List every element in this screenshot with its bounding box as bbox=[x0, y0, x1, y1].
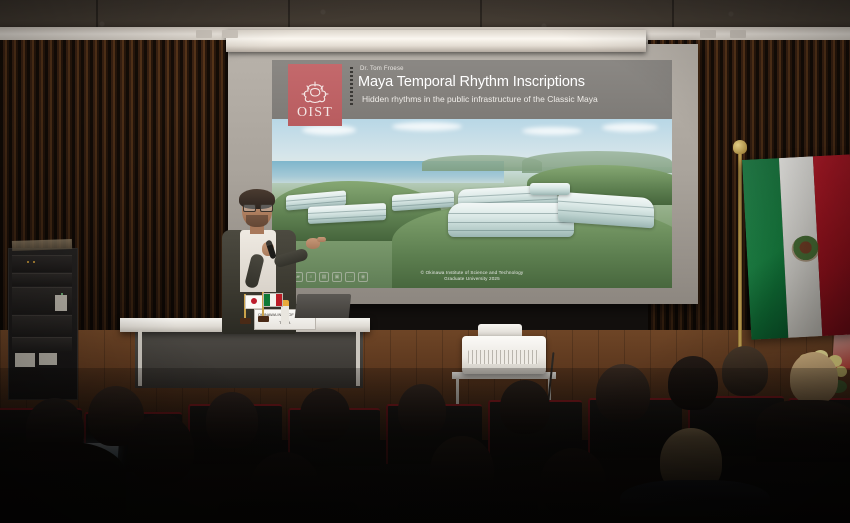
presenter-table-skirt bbox=[135, 330, 363, 388]
presentation-slide: OIST Dr. Tom Froese Maya Temporal Rhythm… bbox=[272, 60, 672, 288]
rack-unit bbox=[12, 337, 72, 352]
audience-head bbox=[398, 384, 446, 436]
more-options-icon[interactable]: ⋯ bbox=[345, 272, 355, 282]
oist-logo: OIST bbox=[288, 64, 342, 126]
audience-shoulders bbox=[398, 488, 538, 523]
audience-head-light-hair bbox=[790, 352, 838, 404]
projector-vent bbox=[468, 350, 538, 364]
flagpole bbox=[738, 148, 742, 348]
audience-head bbox=[668, 356, 718, 410]
status-led bbox=[27, 261, 29, 263]
campus-building-small bbox=[530, 183, 570, 195]
glasses-icon bbox=[243, 204, 271, 210]
flag-shading bbox=[742, 154, 850, 339]
beam-clip bbox=[196, 30, 212, 38]
rack-unit bbox=[12, 315, 72, 336]
cloud bbox=[602, 123, 658, 132]
projector bbox=[462, 336, 546, 374]
campus-building-main bbox=[448, 203, 574, 237]
audience-head bbox=[300, 388, 350, 442]
slides-grid-icon[interactable]: ▦ bbox=[319, 272, 329, 282]
campus-photo: © Okinawa Institute of Science and Techn… bbox=[272, 119, 672, 288]
steel-beam-center bbox=[226, 30, 646, 52]
beam-clip bbox=[222, 30, 238, 38]
screen-icon[interactable]: ▣ bbox=[332, 272, 342, 282]
table-leg bbox=[138, 330, 142, 386]
cloud bbox=[392, 122, 462, 131]
audience-head bbox=[128, 414, 194, 484]
placard-line-2: Dr. Tom Froese bbox=[255, 327, 315, 330]
campus-building bbox=[392, 191, 454, 211]
cloud bbox=[522, 127, 582, 135]
mexico-flag bbox=[742, 154, 850, 339]
audience-shoulders bbox=[0, 442, 126, 523]
cloud bbox=[302, 125, 356, 135]
beam-clip bbox=[730, 30, 746, 38]
rack-unit bbox=[12, 255, 72, 272]
presenter-laptop bbox=[295, 294, 352, 318]
audience-head bbox=[500, 380, 550, 434]
audience-head bbox=[540, 448, 606, 518]
magnifier-icon[interactable]: ⌕ bbox=[306, 272, 316, 282]
pointer-icon[interactable]: ◉ bbox=[358, 272, 368, 282]
speaker-finger bbox=[317, 237, 326, 242]
audience-head bbox=[722, 346, 768, 396]
slide-accent-bar bbox=[350, 67, 353, 107]
audience-head bbox=[206, 392, 258, 448]
audience-shoulders bbox=[218, 492, 358, 523]
flagpole-finial bbox=[733, 140, 747, 154]
audience-shoulders bbox=[620, 480, 770, 523]
audience-head bbox=[596, 364, 650, 422]
status-led bbox=[33, 261, 35, 263]
rack-label bbox=[39, 353, 57, 365]
oist-wordmark: OIST bbox=[288, 105, 342, 121]
auditorium-photo: OIST Dr. Tom Froese Maya Temporal Rhythm… bbox=[0, 0, 850, 523]
rack-label bbox=[55, 295, 67, 311]
slide-subtitle: Hidden rhythms in the public infrastruct… bbox=[362, 94, 598, 104]
beam-clip bbox=[700, 30, 716, 38]
rack-label bbox=[15, 353, 35, 367]
rack-top-clutter bbox=[12, 239, 72, 251]
rack-unit bbox=[12, 273, 72, 286]
speaker-beard bbox=[246, 215, 268, 227]
slide-title: Maya Temporal Rhythm Inscriptions bbox=[358, 74, 585, 90]
av-equipment-rack bbox=[8, 248, 78, 400]
slide-presenter-name: Dr. Tom Froese bbox=[360, 66, 404, 72]
coral-emblem-icon bbox=[298, 81, 332, 107]
audience-shoulders bbox=[756, 400, 850, 462]
table-leg bbox=[356, 330, 360, 386]
